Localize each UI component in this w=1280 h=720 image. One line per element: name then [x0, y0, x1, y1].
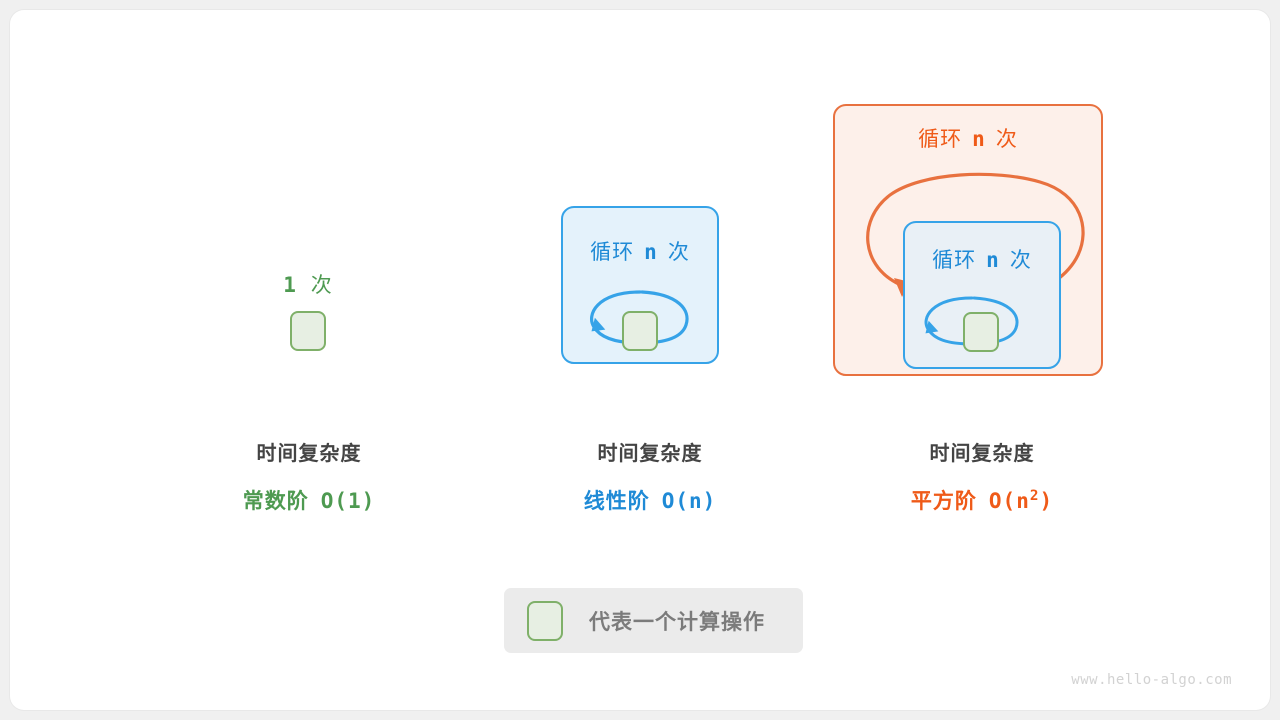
- quadratic-outer-loop-label: 循环n次: [833, 123, 1103, 153]
- constant-count-number: 1: [283, 273, 297, 297]
- caption-linear: 时间复杂度 线性阶O(n): [529, 437, 771, 515]
- legend-label: 代表一个计算操作: [589, 606, 765, 636]
- linear-loop-prefix: 循环: [590, 240, 634, 264]
- legend: 代表一个计算操作: [504, 588, 803, 653]
- linear-loop-number: n: [644, 240, 658, 264]
- caption-notation-close: ): [1039, 489, 1053, 513]
- quadratic-outer-number: n: [972, 127, 986, 151]
- caption-constant: 时间复杂度 常数阶O(1): [188, 437, 430, 515]
- quadratic-inner-unit: 次: [1010, 248, 1032, 272]
- quadratic-outer-prefix: 循环: [918, 127, 962, 151]
- caption-notation-exponent: 2: [1030, 488, 1040, 504]
- caption-order-quadratic: 平方阶: [911, 489, 977, 513]
- caption-value-constant: 常数阶O(1): [188, 485, 430, 515]
- caption-notation-constant: O(1): [321, 489, 376, 513]
- operation-square-linear: [622, 311, 658, 351]
- quadratic-outer-unit: 次: [996, 127, 1018, 151]
- linear-loop-label: 循环n次: [561, 236, 719, 266]
- linear-loop-unit: 次: [668, 240, 690, 264]
- caption-notation-linear: O(n): [662, 489, 717, 513]
- caption-title-linear: 时间复杂度: [529, 437, 771, 466]
- quadratic-inner-number: n: [986, 248, 1000, 272]
- legend-swatch-icon: [527, 601, 563, 641]
- operation-square-quadratic: [963, 312, 999, 352]
- caption-value-quadratic: 平方阶O(n2): [861, 485, 1103, 515]
- caption-order-linear: 线性阶: [584, 489, 650, 513]
- watermark: www.hello-algo.com: [1071, 672, 1232, 688]
- operation-square-constant: [290, 311, 326, 351]
- constant-count-label: 1 次: [242, 269, 374, 299]
- caption-quadratic: 时间复杂度 平方阶O(n2): [861, 437, 1103, 515]
- caption-order-constant: 常数阶: [243, 489, 309, 513]
- caption-value-linear: 线性阶O(n): [529, 485, 771, 515]
- caption-title-quadratic: 时间复杂度: [861, 437, 1103, 466]
- quadratic-inner-prefix: 循环: [932, 248, 976, 272]
- caption-notation-quadratic: O(n2): [989, 489, 1053, 513]
- constant-count-unit: 次: [311, 273, 333, 297]
- quadratic-inner-loop-label: 循环n次: [903, 244, 1061, 274]
- caption-title-constant: 时间复杂度: [188, 437, 430, 466]
- caption-notation-base: O(n: [989, 489, 1030, 513]
- diagram-card: 1 次 时间复杂度 常数阶O(1) 循环n次 时间复杂度 线性阶O(n): [10, 10, 1270, 710]
